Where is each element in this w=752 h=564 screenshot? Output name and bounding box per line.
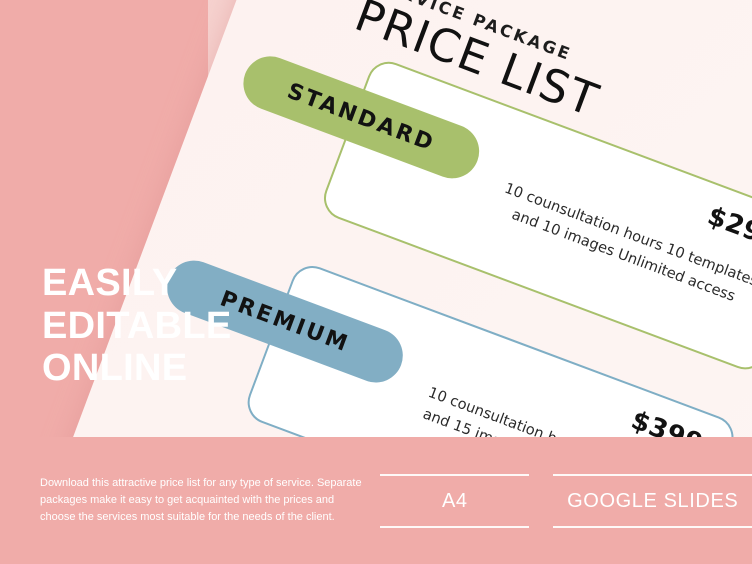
poster-preview-canvas: SERVICE PACKAGE PRICE LIST $299 STANDARD… <box>0 0 752 564</box>
promo-headline-line-3: ONLINE <box>42 347 272 390</box>
platform-rule-bottom <box>553 526 752 528</box>
format-rule-bottom <box>380 526 529 528</box>
footer-platform-block: GOOGLE SLIDES <box>553 474 752 528</box>
promo-headline: EASILY EDITABLE ONLINE <box>42 262 272 390</box>
format-label: A4 <box>380 476 529 526</box>
platform-label: GOOGLE SLIDES <box>553 476 752 526</box>
promo-headline-line-1: EASILY <box>42 262 272 305</box>
promo-headline-line-2: EDITABLE <box>42 305 272 348</box>
tier-label-standard: STANDARD <box>284 78 439 156</box>
features-standard: 10 counsultation hours 10 templates and … <box>479 172 752 319</box>
platform-rule-top <box>553 474 752 476</box>
footer-description: Download this attractive price list for … <box>40 475 366 526</box>
footer-format-block: A4 <box>380 474 529 528</box>
price-standard: $299 <box>703 201 752 255</box>
footer-bar: Download this attractive price list for … <box>0 437 752 564</box>
format-rule-top <box>380 474 529 476</box>
